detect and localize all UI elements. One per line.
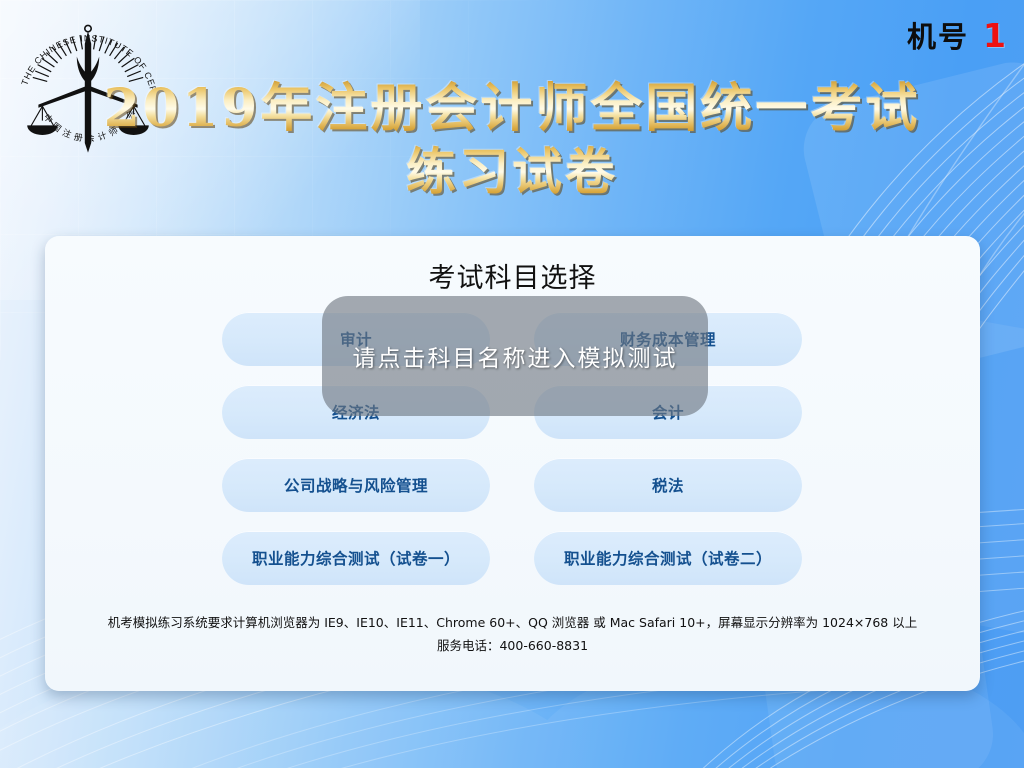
panel-heading: 考试科目选择 [45, 256, 980, 295]
subject-button-corporate-strategy-risk-management[interactable]: 公司战略与风险管理 [222, 458, 490, 512]
machine-number: 机号 1 [907, 14, 1006, 56]
footer-service-phone-text: 服务电话：400-660-8831 [45, 634, 980, 657]
subject-button-comprehensive-test-paper-1[interactable]: 职业能力综合测试（试卷一） [222, 531, 490, 585]
subject-button-comprehensive-test-paper-2[interactable]: 职业能力综合测试（试卷二） [534, 531, 802, 585]
instruction-tooltip-text: 请点击科目名称进入模拟测试 [353, 339, 678, 373]
page-root: THE CHINESE INSTITUTE OF CERTIFIED PUBLI… [0, 0, 1024, 768]
subject-button-tax-law[interactable]: 税法 [534, 458, 802, 512]
page-title: 2019年注册会计师全国统一考试 练习试卷 [0, 78, 1024, 204]
instruction-tooltip[interactable]: 请点击科目名称进入模拟测试 [322, 296, 708, 416]
footer-requirements-text: 机考模拟练习系统要求计算机浏览器为 IE9、IE10、IE11、Chrome 6… [45, 611, 980, 634]
panel-footer: 机考模拟练习系统要求计算机浏览器为 IE9、IE10、IE11、Chrome 6… [45, 611, 980, 657]
machine-number-label: 机号 [907, 14, 969, 56]
machine-number-value: 1 [983, 16, 1006, 55]
page-title-line1: 2019年注册会计师全国统一考试 [0, 78, 1024, 140]
page-title-line2: 练习试卷 [0, 140, 1024, 204]
